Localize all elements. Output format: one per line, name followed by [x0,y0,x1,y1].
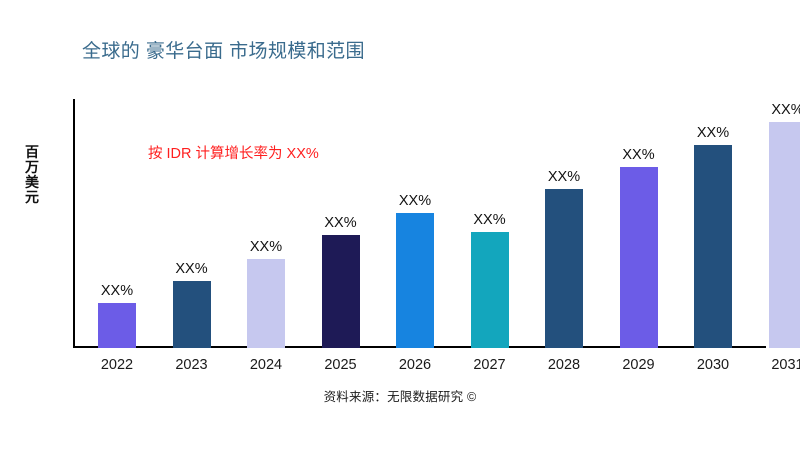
x-tick-2030: 2030 [679,357,747,373]
bar-group: XX% [530,99,598,348]
chart-screenshot: 全球的 豪华台面 市场规模和范围 百万美元 按 IDR 计算增长率为 XX% X… [0,0,800,450]
bar-group: XX% [83,99,151,348]
plot-area: XX%XX%XX%XX%XX%XX%XX%XX%XX%XX% [73,99,766,348]
y-axis-label: 百万美元 [22,145,42,205]
bar-2030[interactable] [694,145,732,348]
x-tick-2023: 2023 [158,357,226,373]
bar-value-label: XX% [473,212,505,228]
page-title: 全球的 豪华台面 市场规模和范围 [82,36,365,63]
bar-group: XX% [754,99,800,348]
bar-value-label: XX% [622,147,654,163]
bar-2025[interactable] [322,235,360,348]
bar-value-label: XX% [697,125,729,141]
bar-value-label: XX% [175,261,207,277]
bar-group: XX% [605,99,673,348]
bar-2024[interactable] [247,259,285,348]
bar-value-label: XX% [250,239,282,255]
bar-value-label: XX% [101,283,133,299]
x-tick-2026: 2026 [381,357,449,373]
bar-group: XX% [158,99,226,348]
x-tick-2024: 2024 [232,357,300,373]
x-tick-2031: 2031 [754,357,800,373]
y-axis-line [73,99,75,348]
bar-group: XX% [232,99,300,348]
bar-value-label: XX% [548,169,580,185]
bar-value-label: XX% [771,102,800,118]
x-tick-2028: 2028 [530,357,598,373]
x-tick-2027: 2027 [456,357,524,373]
bar-2027[interactable] [471,232,509,348]
bar-value-label: XX% [399,193,431,209]
bar-2026[interactable] [396,213,434,348]
x-tick-2022: 2022 [83,357,151,373]
bar-2023[interactable] [173,281,211,348]
bar-value-label: XX% [324,215,356,231]
bar-group: XX% [456,99,524,348]
bar-group: XX% [381,99,449,348]
bar-group: XX% [679,99,747,348]
x-tick-2025: 2025 [307,357,375,373]
bar-2031[interactable] [769,122,800,348]
bar-2028[interactable] [545,189,583,348]
x-tick-2029: 2029 [605,357,673,373]
bar-2022[interactable] [98,303,136,348]
bar-2029[interactable] [620,167,658,348]
source-attribution: 资料来源：无限数据研究 © [0,386,800,405]
bar-group: XX% [307,99,375,348]
